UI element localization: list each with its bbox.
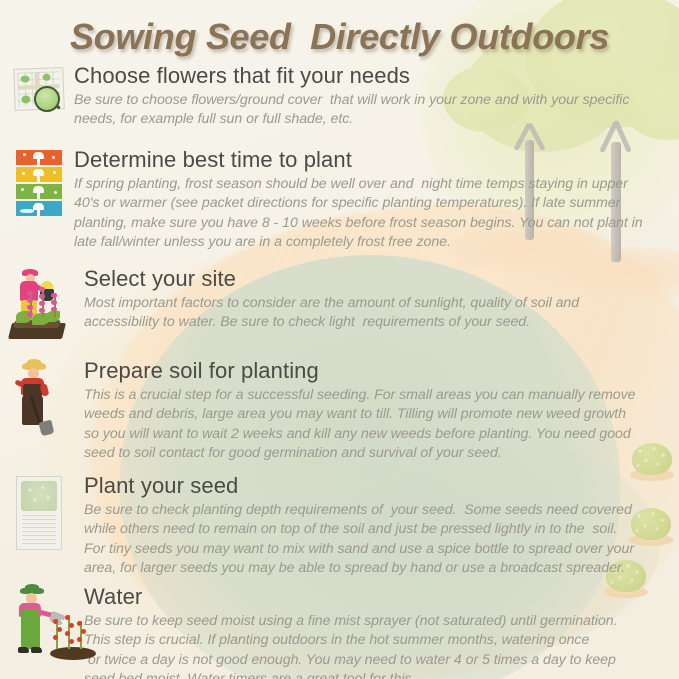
step-item-select-site: Select your site Most important factors … xyxy=(0,267,679,345)
step-heading: Determine best time to plant xyxy=(74,148,671,173)
flower-bloom xyxy=(57,627,62,632)
step-heading: Choose flowers that fit your needs xyxy=(74,64,671,89)
foxglove-bloom xyxy=(27,305,33,310)
flower-bloom xyxy=(65,631,70,636)
step-body: Select your site Most important factors … xyxy=(74,267,671,333)
foxglove-bloom xyxy=(27,298,33,303)
flower-bloom xyxy=(53,635,58,640)
foliage-leaf xyxy=(46,311,60,322)
foxglove-bloom xyxy=(51,307,57,312)
season-leaf xyxy=(54,191,57,194)
step-text: If spring planting, frost season should … xyxy=(74,175,671,253)
step-text-line: or twice a day is not good enough. You m… xyxy=(84,651,671,671)
page-title: Sowing Seed Directly Outdoors xyxy=(0,16,679,58)
infographic-poster: Sowing Seed Directly Outdoors xyxy=(0,0,679,679)
four-seasons-icon xyxy=(6,148,72,226)
step-text-line: planting, make sure you have 8 - 10 week… xyxy=(74,214,671,234)
foxglove-bloom xyxy=(51,293,57,298)
gardener-boot xyxy=(18,647,29,653)
step-item-water: Water Be sure to keep seed moist using a… xyxy=(0,585,679,679)
gardener-with-foxgloves-icon xyxy=(6,267,72,345)
magnifier-lens xyxy=(34,86,60,112)
step-text-line: seed bed moist. Water timers are a great… xyxy=(84,670,671,679)
step-text-line: If spring planting, frost season should … xyxy=(74,175,671,195)
season-tree xyxy=(28,168,50,182)
step-text: This is a crucial step for a successful … xyxy=(84,386,671,464)
step-text: Most important factors to consider are t… xyxy=(84,294,671,333)
flower-bloom xyxy=(81,629,86,634)
step-text-line: For tiny seeds you may want to mix with … xyxy=(84,540,671,560)
step-text-line: late fall/winter unless you are in a com… xyxy=(74,233,671,253)
season-leaf xyxy=(52,156,55,159)
season-leaf xyxy=(21,188,24,191)
step-text-line: Be sure to keep seed moist using a fine … xyxy=(84,612,671,632)
flower-bloom xyxy=(77,637,82,642)
step-item-determine-time: Determine best time to plant If spring p… xyxy=(0,148,679,253)
poster-content: Sowing Seed Directly Outdoors xyxy=(0,0,679,679)
step-text-line: while others need to remain on top of th… xyxy=(84,520,671,540)
autumn-band xyxy=(16,184,62,199)
season-tree xyxy=(28,151,50,165)
foxglove-bloom xyxy=(27,291,33,296)
gardener-watering-icon xyxy=(6,585,72,663)
farmer-with-shovel-icon xyxy=(6,359,72,437)
season-tree xyxy=(28,185,50,199)
step-heading: Prepare soil for planting xyxy=(84,359,671,384)
seed-packet-icon xyxy=(6,474,72,552)
step-heading: Plant your seed xyxy=(84,474,671,499)
step-heading: Select your site xyxy=(84,267,671,292)
step-body: Plant your seed Be sure to check plantin… xyxy=(74,474,671,579)
steps-list: Choose flowers that fit your needs Be su… xyxy=(0,64,679,679)
step-body: Determine best time to plant If spring p… xyxy=(74,148,671,253)
snow-drift xyxy=(20,209,34,213)
step-text-line: This step is crucial. If planting outdoo… xyxy=(84,631,671,651)
flower-bloom xyxy=(69,623,74,628)
flower-bloom xyxy=(77,621,82,626)
season-leaf xyxy=(22,172,25,175)
seed-packet xyxy=(16,476,62,550)
step-item-prepare-soil: Prepare soil for planting This is a cruc… xyxy=(0,359,679,464)
foxglove-bloom xyxy=(39,301,45,306)
step-text-line: needs, for example full sun or full shad… xyxy=(74,110,671,130)
step-text: Be sure to check planting depth requirem… xyxy=(84,501,671,579)
foxglove-bloom xyxy=(27,312,33,317)
gardener-boot xyxy=(31,647,42,653)
season-leaf xyxy=(53,171,56,174)
step-text-line: seed to soil contact for good germinatio… xyxy=(84,444,671,464)
winter-band xyxy=(16,201,62,216)
step-body: Choose flowers that fit your needs Be su… xyxy=(74,64,671,130)
step-text-line: so you will want to wait 2 weeks and kil… xyxy=(84,425,671,445)
step-heading: Water xyxy=(84,585,671,610)
step-item-choose-flowers: Choose flowers that fit your needs Be su… xyxy=(0,64,679,142)
step-text-line: Be sure to choose flowers/ground cover t… xyxy=(74,91,671,111)
step-item-plant-seed: Plant your seed Be sure to check plantin… xyxy=(0,474,679,579)
foxglove-bloom xyxy=(39,294,45,299)
flower-bloom xyxy=(69,639,74,644)
foxglove-bloom xyxy=(51,300,57,305)
step-text-line: This is a crucial step for a successful … xyxy=(84,386,671,406)
step-body: Prepare soil for planting This is a cruc… xyxy=(74,359,671,464)
step-text-line: weeds and debris, large area you may wan… xyxy=(84,405,671,425)
step-text-line: 40's or warmer (see packet directions fo… xyxy=(74,194,671,214)
garden-plan-magnifier-icon xyxy=(6,64,72,142)
flower-bloom xyxy=(53,619,58,624)
step-text: Be sure to choose flowers/ground cover t… xyxy=(74,91,671,130)
step-text: Be sure to keep seed moist using a fine … xyxy=(84,612,671,679)
flower-bloom xyxy=(65,615,70,620)
step-text-line: Be sure to check planting depth requirem… xyxy=(84,501,671,521)
spring-band xyxy=(16,150,62,165)
step-text-line: accessibility to water. Be sure to check… xyxy=(84,313,671,333)
packet-fade-overlay xyxy=(17,477,61,549)
gardener-overalls xyxy=(21,609,40,649)
step-body: Water Be sure to keep seed moist using a… xyxy=(74,585,671,679)
step-text-line: Most important factors to consider are t… xyxy=(84,294,671,314)
foxglove-bloom xyxy=(39,287,45,292)
foxglove-bloom xyxy=(39,308,45,313)
step-text-line: area, for larger seeds you may be able t… xyxy=(84,559,671,579)
summer-band xyxy=(16,167,62,182)
shovel-blade xyxy=(38,420,54,437)
season-leaf xyxy=(23,153,26,156)
